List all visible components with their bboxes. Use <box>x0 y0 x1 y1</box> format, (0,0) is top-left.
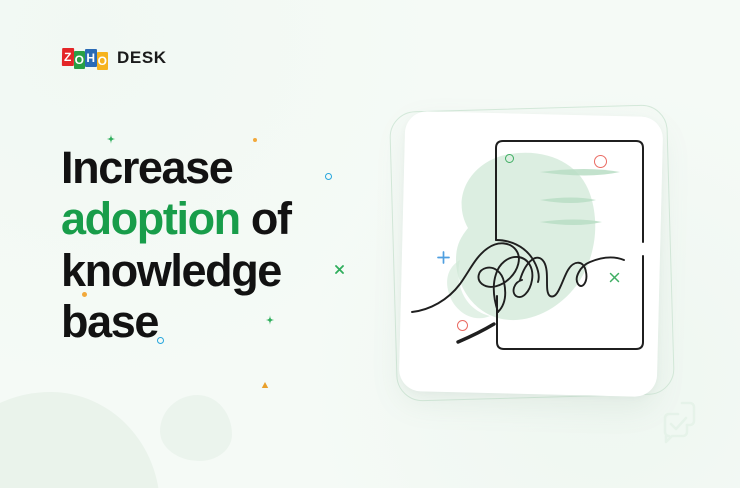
headline-after-accent: of <box>240 193 291 244</box>
zoho-logo-letter-z: Z <box>62 48 74 66</box>
headline-line-3: knowledge <box>61 245 281 296</box>
zoho-logo-letter-h: H <box>85 49 97 67</box>
hand-signing-document-illustration <box>398 110 656 392</box>
zoho-logo-icon: Z O H O <box>62 47 108 68</box>
brand-lockup: Z O H O DESK <box>62 47 167 68</box>
promo-banner: Z O H O DESK Increase adoption of knowle… <box>0 0 740 488</box>
orange-triangle-icon <box>261 381 269 389</box>
zoho-logo-letter-o2: O <box>97 52 109 70</box>
headline-line-4: base <box>61 296 158 347</box>
background-blob-small <box>160 395 232 461</box>
headline-line-1: Increase <box>61 142 232 193</box>
pen-nib-stroke <box>458 324 494 342</box>
zoho-desk-watermark-icon <box>660 400 702 446</box>
illustration-container <box>398 110 656 392</box>
background-blob-large <box>0 392 160 488</box>
zoho-logo-letter-o1: O <box>74 51 86 69</box>
page-title: Increase adoption of knowledge base <box>61 142 391 347</box>
product-name: DESK <box>117 48 167 68</box>
headline-accent-word: adoption <box>61 193 240 244</box>
